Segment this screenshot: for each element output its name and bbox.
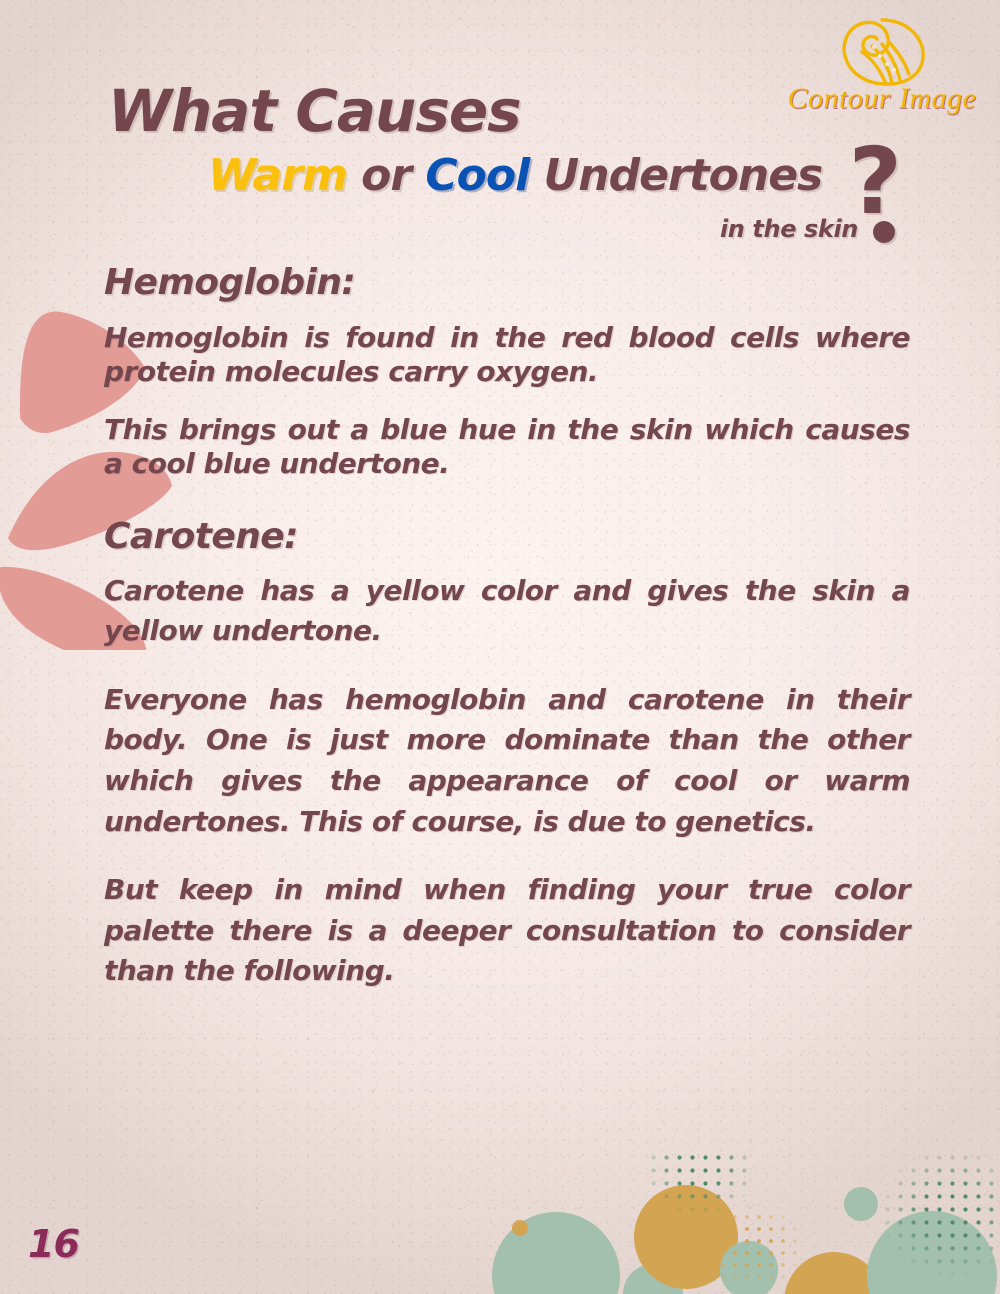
decor-dots-green-1 (642, 1154, 758, 1216)
title-subline: in the skin (720, 215, 858, 243)
decor-circle-sage-3 (720, 1241, 778, 1294)
paragraph-carotene-1: Carotene has a yellow color and gives th… (104, 571, 910, 652)
decor-circle-sage-5 (867, 1211, 997, 1294)
decor-circle-gold-3 (784, 1252, 884, 1294)
decor-circle-gold-1 (512, 1220, 528, 1236)
question-mark-dot-icon (873, 221, 895, 243)
paragraph-carotene-2: Everyone has hemoglobin and carotene in … (104, 680, 910, 842)
article-body: Hemoglobin: Hemoglobin is found in the r… (104, 262, 910, 992)
decor-circle-sage-4 (844, 1187, 878, 1221)
page-canvas: Contour Image What Causes Warm or Cool U… (0, 0, 1000, 1294)
decor-dots-gold-1 (696, 1202, 808, 1290)
section-spacer (104, 506, 910, 516)
cool-word: Cool (425, 150, 529, 201)
confetti-decoration (0, 1154, 1000, 1294)
section-heading-hemoglobin: Hemoglobin: (104, 262, 910, 303)
nautilus-shell-icon (834, 14, 930, 88)
conjunction-or: or (347, 150, 426, 201)
decor-dots-green-2 (878, 1154, 1000, 1278)
paragraph-carotene-3: But keep in mind when finding your true … (104, 870, 910, 992)
paragraph-hemoglobin-1: Hemoglobin is found in the red blood cel… (104, 321, 910, 389)
warm-word: Warm (208, 150, 347, 201)
paragraph-hemoglobin-2: This brings out a blue hue in the skin w… (104, 413, 910, 481)
decor-circle-sage-1 (492, 1212, 620, 1294)
decor-circle-gold-2 (634, 1185, 738, 1289)
decor-circle-sage-2 (623, 1264, 683, 1294)
page-number: 16 (28, 1222, 79, 1266)
section-heading-carotene: Carotene: (104, 516, 910, 557)
undertones-word: Undertones (529, 150, 822, 201)
